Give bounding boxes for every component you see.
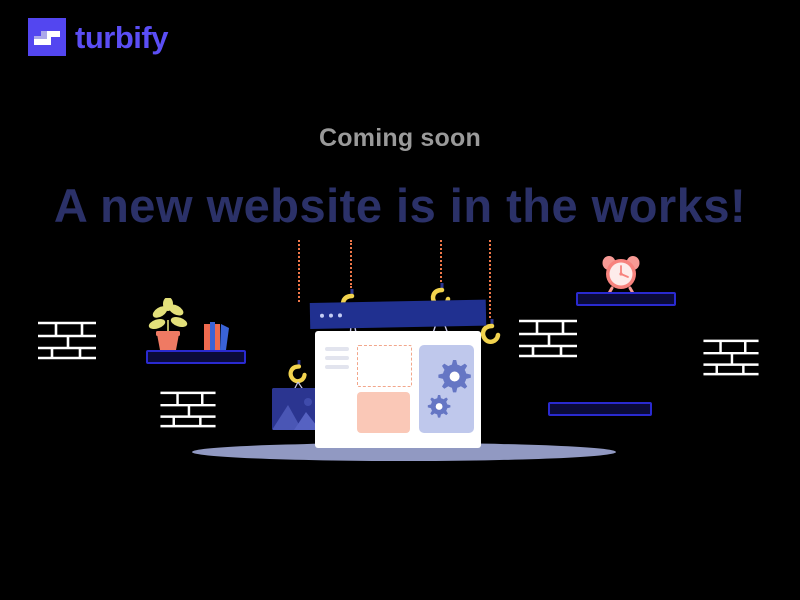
plant-and-books-icon <box>144 298 244 356</box>
shelf-icon-right-lower <box>548 402 652 416</box>
window-dot-1-icon <box>320 314 324 318</box>
turbify-logo-mark-icon <box>28 18 66 56</box>
gears-icon <box>419 345 474 433</box>
brick-wall-left-lower-icon <box>160 390 216 428</box>
coming-soon-illustration <box>0 240 800 490</box>
brand-logo[interactable]: turbify <box>28 18 168 56</box>
shelf-icon-plant <box>146 350 246 364</box>
browser-title-bar <box>310 300 486 329</box>
page-title: A new website is in the works! <box>0 178 800 233</box>
plant-shelf-group <box>144 298 244 354</box>
clock-group <box>600 252 642 296</box>
hanging-dotted-line-center-right <box>440 240 442 282</box>
brick-wall-center-right-icon <box>518 318 578 358</box>
shelf-icon-clock <box>576 292 676 306</box>
window-dot-2-icon <box>329 314 333 318</box>
alarm-clock-icon <box>600 252 642 296</box>
gear-panel <box>419 345 474 433</box>
hanging-dotted-line-left <box>298 240 300 302</box>
eyebrow-text: Coming soon <box>0 124 800 153</box>
placeholder-line-2 <box>325 356 349 360</box>
hanging-dotted-line-center-left <box>350 240 352 288</box>
browser-content-area <box>315 331 481 448</box>
placeholder-line-3 <box>325 365 349 369</box>
browser-window-mock[interactable] <box>312 303 484 453</box>
dashed-placeholder-box <box>357 345 412 387</box>
brick-wall-far-left-icon <box>38 320 96 360</box>
peach-content-block <box>357 392 410 433</box>
hanging-dotted-line-right <box>489 240 491 318</box>
brick-wall-far-right-icon <box>702 338 760 376</box>
brand-wordmark: turbify <box>75 22 168 53</box>
placeholder-line-1 <box>325 347 349 351</box>
window-dot-3-icon <box>338 313 342 317</box>
